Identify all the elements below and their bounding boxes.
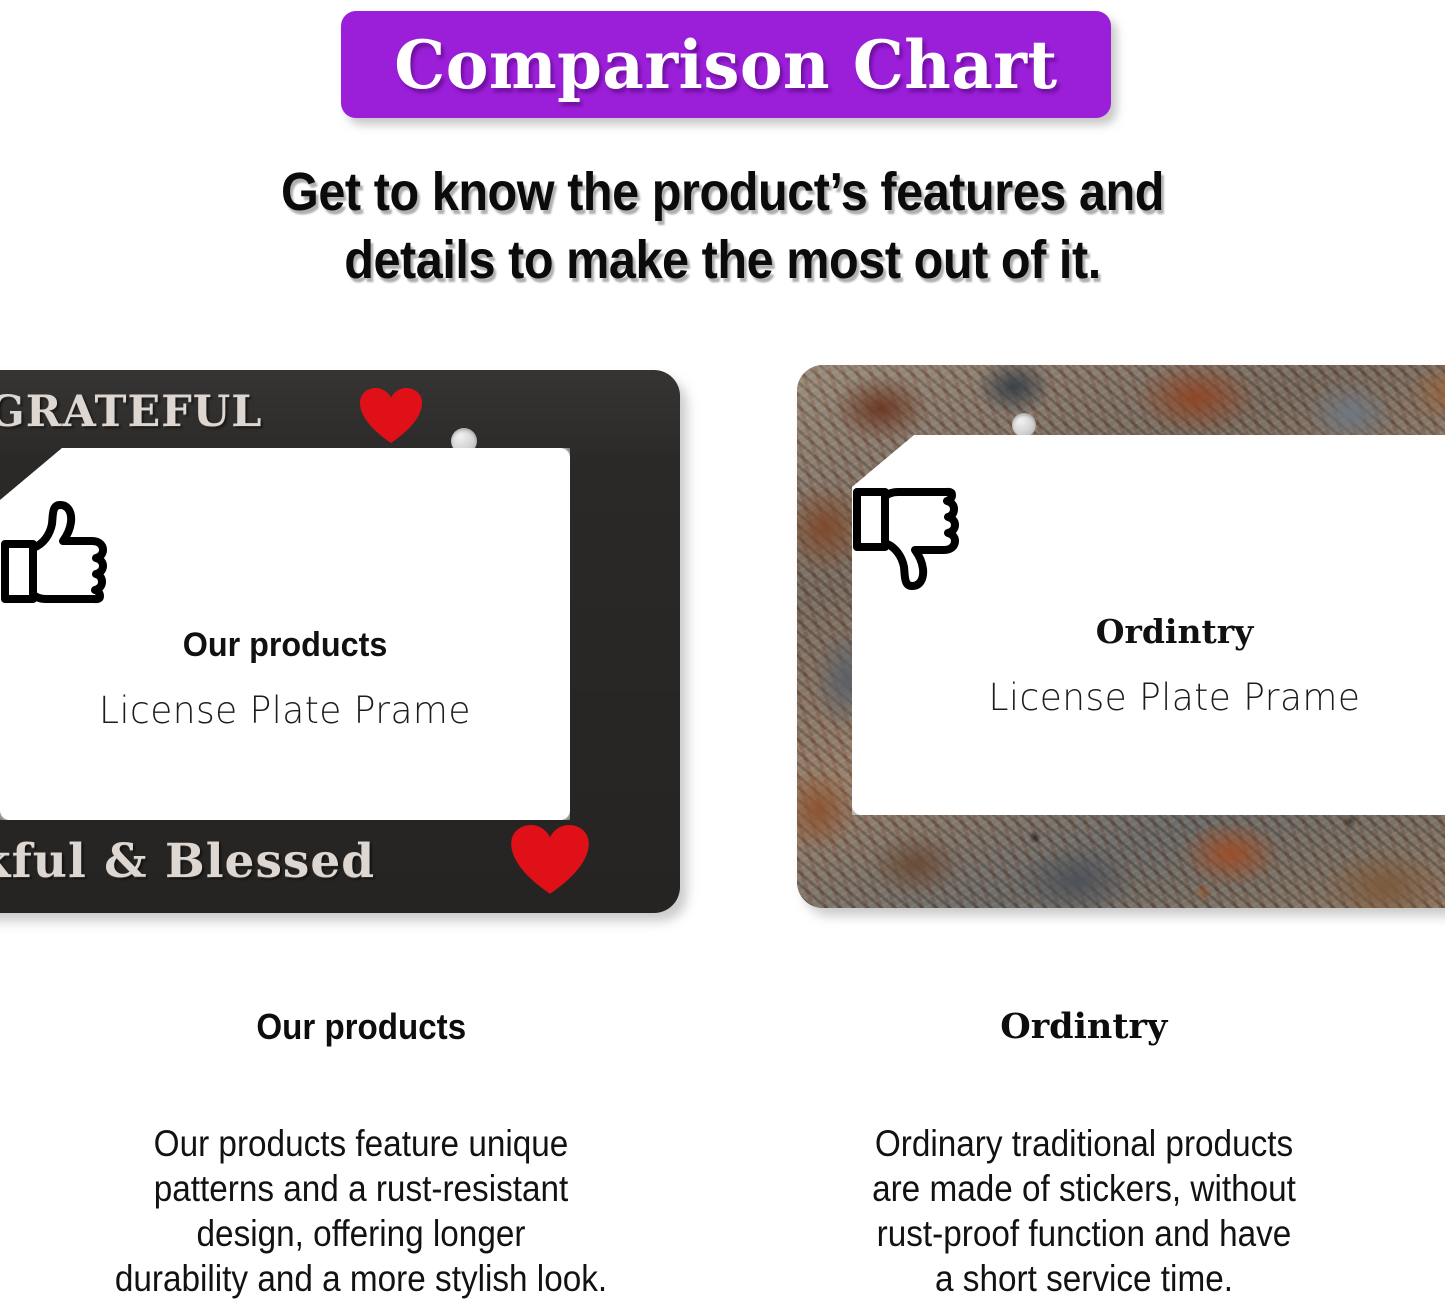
- thumbs-up-icon: [0, 500, 570, 604]
- our-products-column: Our products Our products feature unique…: [0, 985, 723, 1314]
- description-line-1: Our products feature unique: [64, 1121, 658, 1166]
- plate-window-content-good: Our products License Plate Prame: [0, 500, 570, 732]
- description-line-4: durability and a more stylish look.: [64, 1256, 658, 1301]
- plate-window-subtitle-good: License Plate Prame: [9, 690, 562, 732]
- subtitle-line-2: details to make the most out of it.: [72, 226, 1373, 294]
- plate-window-content-bad: Ordintry License Plate Prame: [852, 487, 1445, 719]
- description-line-2: are made of stickers, without: [787, 1166, 1381, 1211]
- frame-bottom-band-text: kful & Blessed: [0, 838, 375, 886]
- mounting-hole: [1012, 413, 1036, 437]
- frame-top-band-text: GRATEFUL: [0, 390, 263, 434]
- plate-window-bad: Ordintry License Plate Prame: [852, 435, 1445, 815]
- description-line-3: rust-proof function and have: [787, 1211, 1381, 1256]
- plate-window-good: Our products License Plate Prame: [0, 448, 570, 820]
- comparison-description-row: Our products Our products feature unique…: [0, 985, 1445, 1314]
- heart-icon-bottom: [511, 825, 589, 895]
- page-subtitle: Get to know the product’s features and d…: [72, 158, 1373, 294]
- header-banner-area: Comparison Chart: [0, 0, 1445, 130]
- ordinary-products-heading: Ordintry: [723, 1007, 1445, 1047]
- heart-icon-top: [360, 388, 422, 444]
- page-title: Comparison Chart: [394, 32, 1057, 98]
- description-line-1: Ordinary traditional products: [787, 1121, 1381, 1166]
- description-line-4: a short service time.: [787, 1256, 1381, 1301]
- plate-window-title-good: Our products: [14, 626, 556, 664]
- subtitle-line-1: Get to know the product’s features and: [72, 158, 1373, 226]
- description-line-3: design, offering longer: [64, 1211, 658, 1256]
- our-products-description: Our products feature unique patterns and…: [64, 1121, 658, 1301]
- ordinary-products-column: Ordintry Ordinary traditional products a…: [723, 985, 1445, 1314]
- our-products-heading: Our products: [29, 1007, 694, 1047]
- plate-window-subtitle-bad: License Plate Prame: [862, 677, 1445, 719]
- our-product-plate-frame: GRATEFUL Our products License Plate: [0, 370, 680, 913]
- thumbs-down-icon: [852, 487, 1445, 591]
- ordinary-product-plate-frame: Ordintry License Plate Prame: [797, 365, 1445, 908]
- product-frames-row: GRATEFUL Our products License Plate: [0, 355, 1445, 915]
- comparison-chart-banner: Comparison Chart: [341, 11, 1111, 118]
- plate-window-title-bad: Ordintry: [852, 613, 1445, 651]
- description-line-2: patterns and a rust-resistant: [64, 1166, 658, 1211]
- ordinary-products-description: Ordinary traditional products are made o…: [787, 1121, 1381, 1301]
